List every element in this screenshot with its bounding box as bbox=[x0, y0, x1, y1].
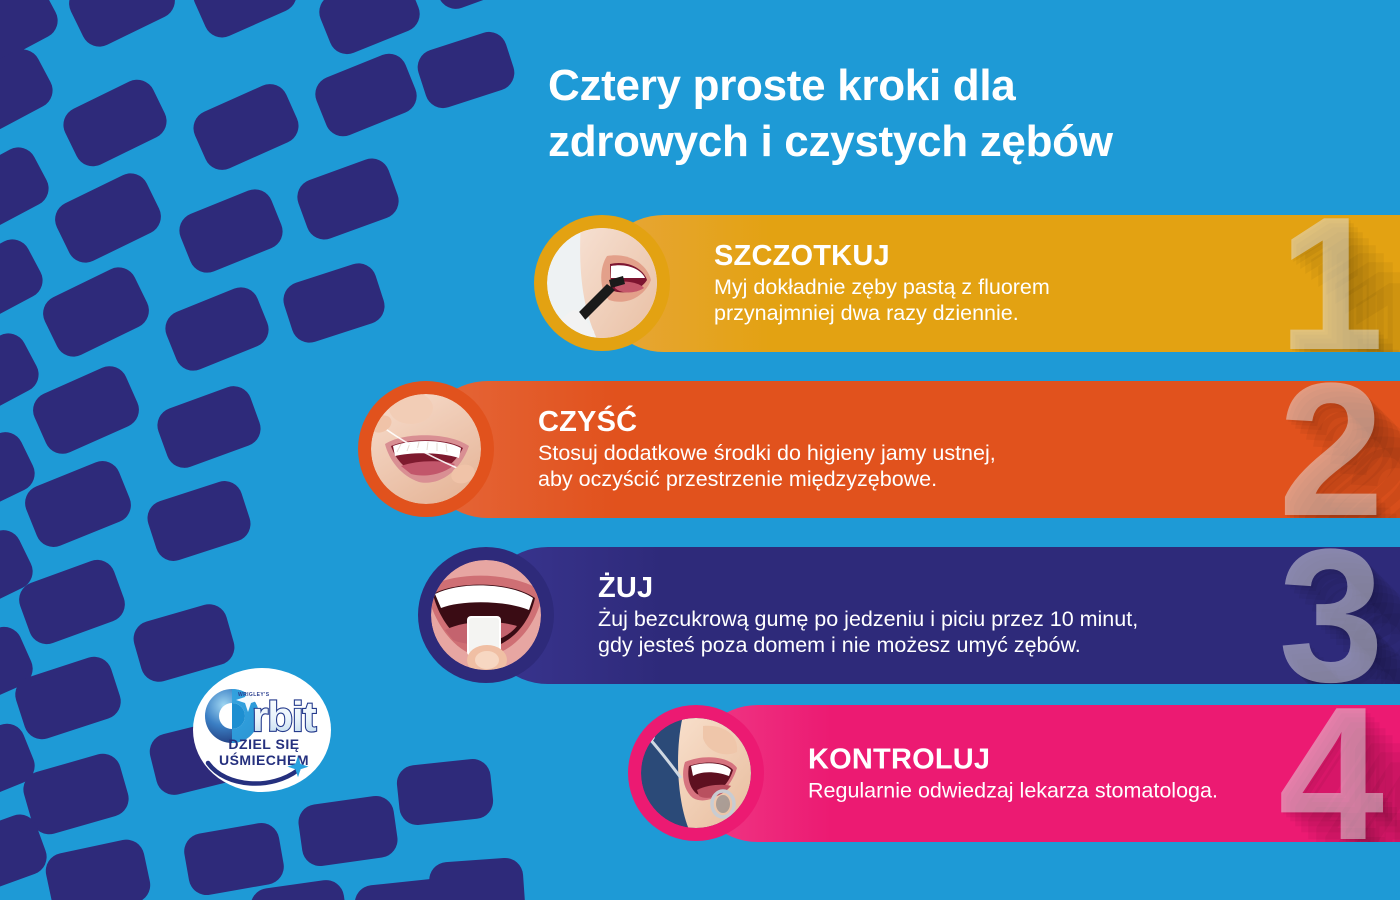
gum-pellet bbox=[181, 820, 286, 898]
page-title-line-2: zdrowych i czystych zębów bbox=[548, 114, 1308, 170]
step-2-photo-image bbox=[371, 394, 481, 504]
gum-pellet bbox=[428, 857, 526, 900]
gum-pellet bbox=[395, 757, 495, 826]
step-1-body: Myj dokładnie zęby pastą z fluorem przyn… bbox=[714, 274, 1050, 328]
gum-pellet bbox=[0, 809, 52, 900]
gum-pellet bbox=[248, 878, 349, 900]
step-number-3: 3 bbox=[1278, 547, 1384, 684]
gum-pellet bbox=[14, 555, 130, 649]
gum-pellet bbox=[0, 426, 41, 524]
step-2-body-line-1: Stosuj dodatkowe środki do higieny jamy … bbox=[538, 440, 996, 467]
step-3-body-line-2: gdy jesteś poza domem i nie możesz umyć … bbox=[598, 633, 1138, 660]
step-1-body-line-1: Myj dokładnie zęby pastą z fluorem bbox=[714, 274, 1050, 301]
gum-pellet bbox=[0, 621, 38, 717]
step-band-2: 2 2 CZYŚĆ Stosuj dodatkowe środki do hig… bbox=[420, 381, 1400, 518]
gum-pellet bbox=[292, 153, 403, 244]
step-2-body-line-2: aby oczyścić przestrzenie międzyzębowe. bbox=[538, 467, 996, 494]
svg-text:rbit: rbit bbox=[252, 693, 317, 740]
gum-pellet bbox=[20, 456, 137, 553]
step-1-body-line-2: przynajmniej dwa razy dziennie. bbox=[714, 301, 1050, 328]
gum-pellet bbox=[160, 282, 274, 376]
page-title: Cztery proste kroki dla zdrowych i czyst… bbox=[548, 58, 1308, 171]
page-title-line-1: Cztery proste kroki dla bbox=[548, 58, 1308, 114]
step-number-1: 1 bbox=[1278, 215, 1384, 352]
gum-pellet bbox=[0, 0, 64, 73]
gum-pellet bbox=[296, 794, 400, 869]
gum-pellet bbox=[413, 27, 519, 112]
step-number-4: 4 bbox=[1278, 705, 1384, 842]
step-1-heading: SZCZOTKUJ bbox=[714, 240, 1050, 273]
gum-pellet bbox=[279, 259, 389, 348]
gum-pellet bbox=[0, 718, 40, 811]
gum-pellet bbox=[314, 0, 425, 60]
step-4-photo-image bbox=[641, 718, 751, 828]
step-band-3: 3 3 ŻUJ Żuj bezcukrową gumę po jedzeniu … bbox=[480, 547, 1400, 684]
step-band-4: 4 4 KONTROLUJ Regularnie odwiedzaj lekar… bbox=[690, 705, 1400, 842]
step-1-text: SZCZOTKUJ Myj dokładnie zęby pastą z flu… bbox=[714, 240, 1050, 328]
step-number-2: 2 bbox=[1278, 381, 1384, 518]
gum-pellet bbox=[63, 0, 181, 53]
gum-pellet bbox=[310, 48, 422, 141]
gum-pellet bbox=[188, 0, 303, 43]
step-2-text: CZYŚĆ Stosuj dodatkowe środki do higieny… bbox=[538, 406, 996, 494]
step-4-photo bbox=[628, 705, 764, 841]
svg-text:DZIEL SIĘ: DZIEL SIĘ bbox=[228, 736, 299, 752]
gum-pellet bbox=[0, 327, 45, 427]
step-3-photo-image bbox=[431, 560, 541, 670]
step-4-text: KONTROLUJ Regularnie odwiedzaj lekarza s… bbox=[808, 743, 1218, 804]
gum-pellet bbox=[0, 141, 55, 241]
gum-pellet bbox=[0, 233, 49, 333]
gum-pellet bbox=[353, 877, 455, 900]
gum-pellet bbox=[0, 43, 59, 143]
step-band-1: 1 1 SZCZOTKUJ Myj dokładnie zęby pastą z… bbox=[596, 215, 1400, 352]
gum-pellet bbox=[152, 381, 265, 473]
step-2-photo bbox=[358, 381, 494, 517]
step-2-body: Stosuj dodatkowe środki do higieny jamy … bbox=[538, 440, 996, 494]
step-1-photo-image bbox=[547, 228, 657, 338]
gum-pellet bbox=[425, 0, 532, 14]
step-3-photo bbox=[418, 547, 554, 683]
step-3-heading: ŻUJ bbox=[598, 572, 1138, 605]
step-3-body-line-1: Żuj bezcukrową gumę po jedzeniu i piciu … bbox=[598, 606, 1138, 633]
step-2-heading: CZYŚĆ bbox=[538, 406, 996, 439]
step-4-body-line-1: Regularnie odwiedzaj lekarza stomatologa… bbox=[808, 777, 1218, 804]
gum-pellet bbox=[11, 652, 126, 744]
gum-pellet bbox=[27, 360, 144, 459]
step-4-body: Regularnie odwiedzaj lekarza stomatologa… bbox=[808, 777, 1218, 804]
step-4-heading: KONTROLUJ bbox=[808, 743, 1218, 776]
gum-pellet bbox=[188, 78, 305, 175]
step-3-body: Żuj bezcukrową gumę po jedzeniu i piciu … bbox=[598, 606, 1138, 660]
gum-pellet bbox=[57, 74, 172, 173]
orbit-logo: WRIGLEY'S rbit DZIEL SIĘ UŚMIECHEM bbox=[186, 664, 338, 796]
gum-pellet bbox=[174, 184, 288, 278]
gum-pellet bbox=[143, 476, 255, 565]
gum-pellet bbox=[37, 261, 155, 362]
step-1-photo bbox=[534, 215, 670, 351]
step-3-text: ŻUJ Żuj bezcukrową gumę po jedzeniu i pi… bbox=[598, 572, 1138, 660]
gum-pellet bbox=[49, 167, 167, 268]
gum-pellet bbox=[0, 524, 39, 622]
infographic-canvas: Cztery proste kroki dla zdrowych i czyst… bbox=[0, 0, 1400, 900]
gum-pellet bbox=[42, 836, 153, 900]
gum-pellet bbox=[19, 749, 133, 838]
